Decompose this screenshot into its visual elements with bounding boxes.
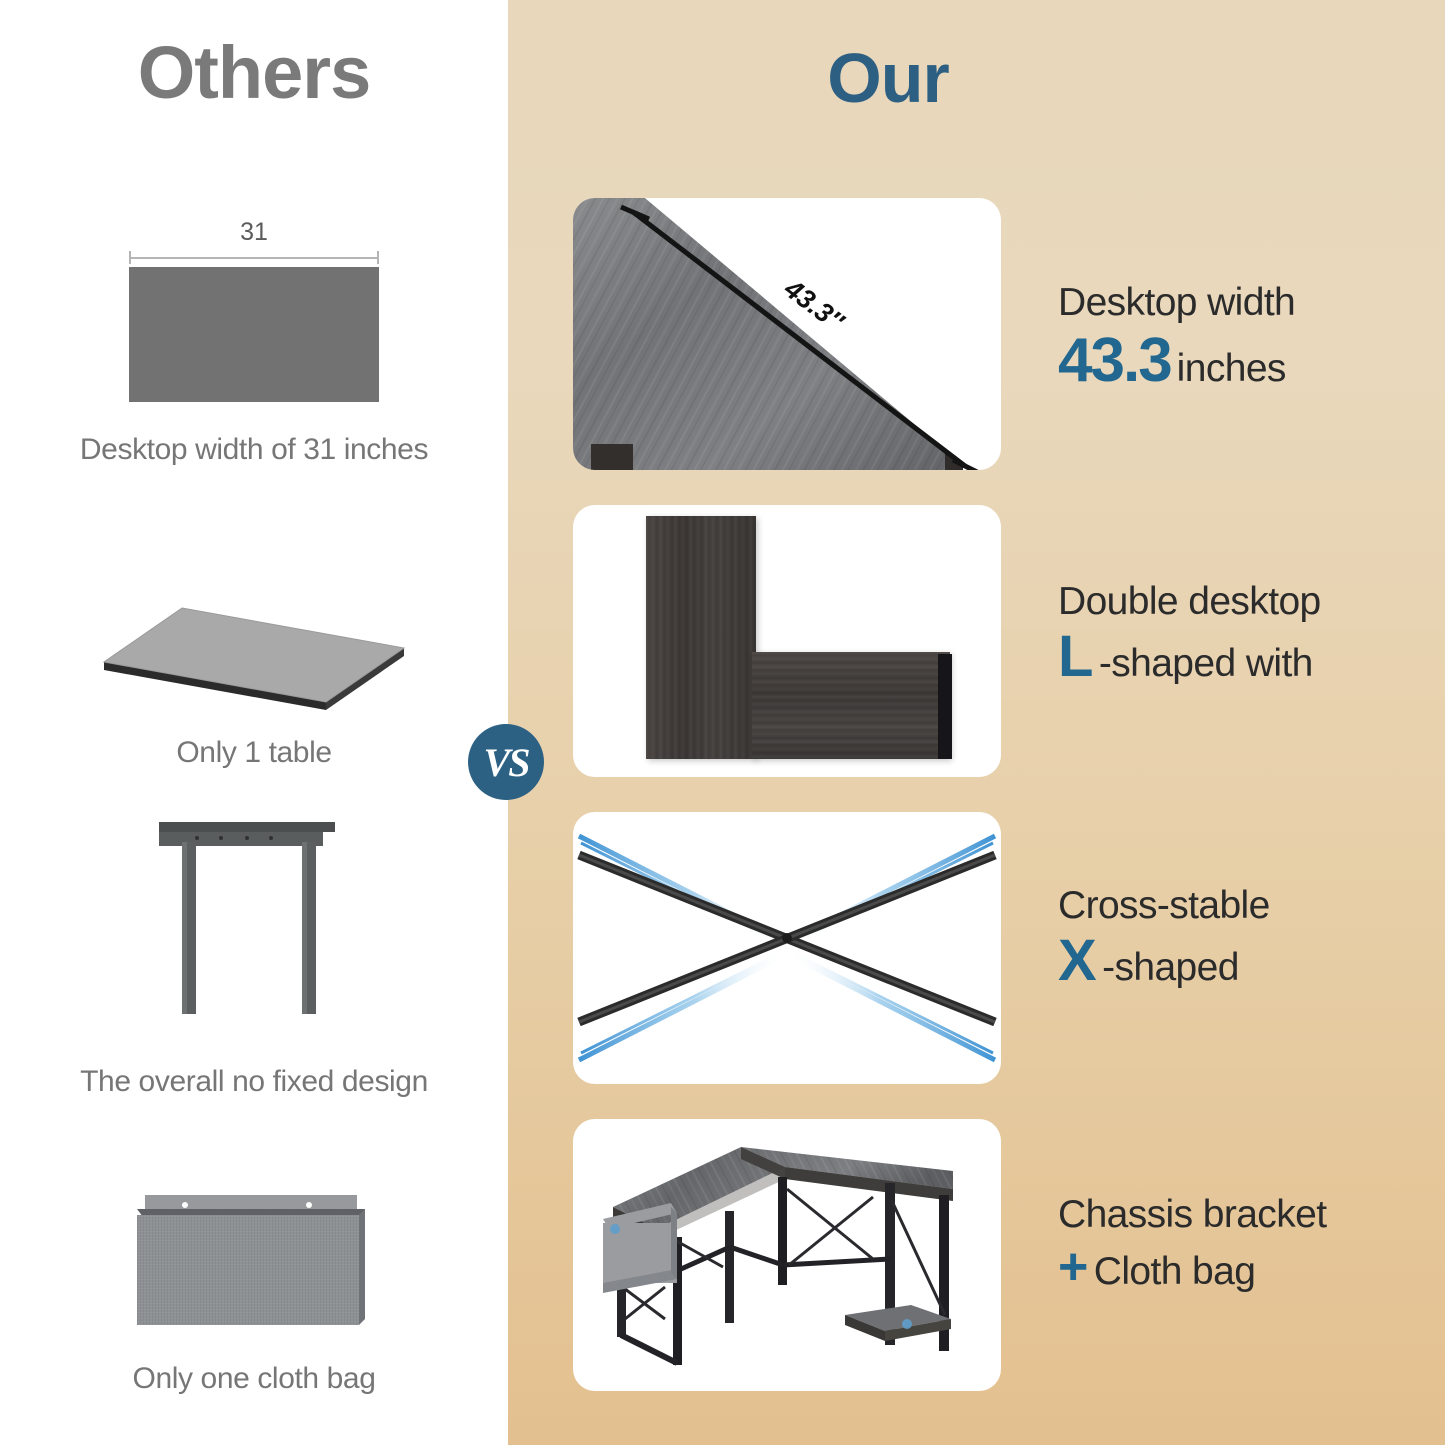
dimension-line [129, 251, 379, 263]
l-desktop-vertical-plank [646, 516, 756, 759]
others-item-cloth-bag: Only one cloth bag [0, 1195, 508, 1396]
feature-line2-rest-2: -shaped with [1099, 644, 1313, 685]
feature-line2-rest-4: Cloth bag [1094, 1252, 1256, 1293]
others-title: Others [0, 30, 508, 115]
feature-text-double-desktop: Double desktop L -shaped with [1058, 582, 1321, 685]
others-caption-3: The overall no fixed design [0, 1065, 508, 1099]
accent-value-43: 43.3 [1058, 332, 1171, 391]
dimension-value-label: 31 [129, 218, 379, 247]
others-column: Others 31 Desktop width of 31 inches [0, 0, 508, 1445]
dimension-tick-right [377, 251, 379, 264]
feature-card-cross-stable [573, 812, 1001, 1084]
accent-glyph-x: X [1058, 935, 1096, 987]
single-tabletop-panel-icon [94, 600, 414, 710]
feature-line2-3: X -shaped [1058, 935, 1270, 989]
feature-line1-3: Cross-stable [1058, 886, 1270, 927]
accent-glyph-plus: + [1058, 1244, 1088, 1291]
x-cross-brace-icon [573, 812, 1001, 1084]
others-caption-1: Desktop width of 31 inches [0, 433, 508, 467]
vs-badge: VS [468, 724, 544, 800]
feature-card-double-desktop [573, 505, 1001, 777]
unbraced-leg-frame-icon [159, 820, 349, 1035]
l-desktop-horizontal-plank [752, 652, 950, 759]
l-desktop-end-cap [938, 654, 952, 759]
feature-line1-1: Desktop width [1058, 283, 1295, 324]
gray-desktop-slab-icon [129, 267, 379, 402]
feature-card-desktop-width: 43.3″ [573, 198, 1001, 470]
feature-line1-2: Double desktop [1058, 582, 1321, 623]
others-caption-2: Only 1 table [0, 736, 508, 770]
feature-text-desktop-width: Desktop width 43.3 inches [1058, 283, 1295, 391]
feature-line2-rest-3: -shaped [1102, 948, 1239, 989]
others-item-no-fixed-design: The overall no fixed design [0, 820, 508, 1099]
others-caption-4: Only one cloth bag [0, 1362, 508, 1396]
feature-line2-1: 43.3 inches [1058, 332, 1295, 391]
feature-line2-4: + Cloth bag [1058, 1244, 1326, 1293]
accent-glyph-l: L [1058, 631, 1093, 683]
feature-text-cross-stable: Cross-stable X -shaped [1058, 886, 1270, 989]
dimension-tick-left [129, 251, 131, 264]
feature-line1-4: Chassis bracket [1058, 1195, 1326, 1236]
feature-card-chassis-bracket [573, 1119, 1001, 1391]
angled-desktop-panel-icon [573, 198, 1001, 470]
our-title: Our [508, 38, 1268, 118]
others-item-single-table: Only 1 table [0, 600, 508, 770]
others-item-desktop-width: 31 Desktop width of 31 inches [0, 218, 508, 467]
feature-text-chassis-bracket: Chassis bracket + Cloth bag [1058, 1195, 1326, 1293]
feature-line2-2: L -shaped with [1058, 631, 1321, 685]
dimension-annotation: 31 [129, 218, 379, 263]
l-shaped-desk-assembled-icon [573, 1119, 1001, 1391]
unit-inches: inches [1177, 349, 1286, 390]
comparison-infographic: Others 31 Desktop width of 31 inches [0, 0, 1445, 1445]
our-column: Our [508, 0, 1445, 1445]
cloth-storage-bag-icon [137, 1195, 372, 1330]
